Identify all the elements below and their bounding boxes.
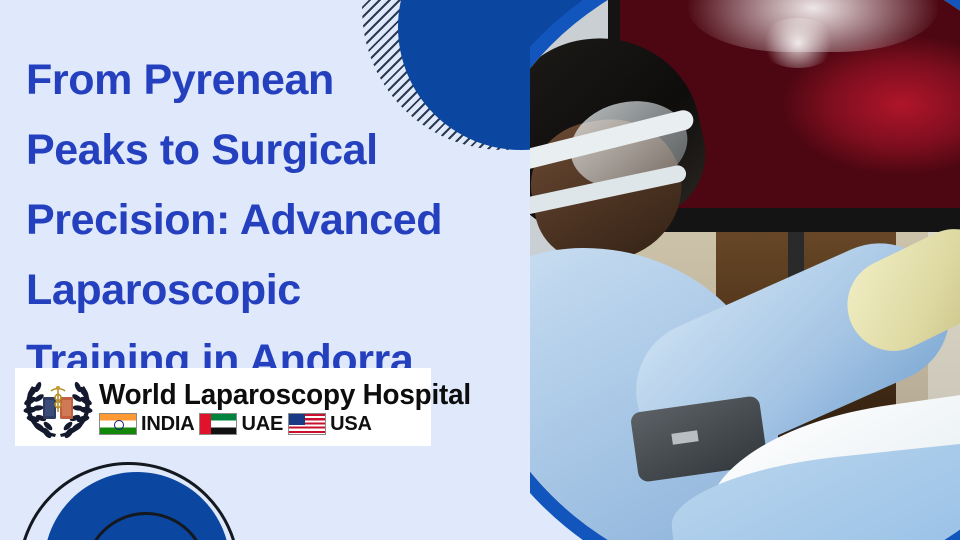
- uae-flag: [199, 413, 237, 435]
- poster-canvas: From Pyrenean Peaks to Surgical Precisio…: [0, 0, 960, 540]
- bottom-left-blue-disc: [44, 472, 230, 540]
- title-line-3: Precision: Advanced: [26, 185, 502, 255]
- india-flag: [99, 413, 137, 435]
- surgeon-photo-frame: [530, 0, 960, 540]
- country-label-uae: UAE: [241, 414, 283, 434]
- laurel-wreath-caduceus-books-emblem: [19, 372, 97, 442]
- logo-hospital-name: World Laparoscopy Hospital: [99, 379, 471, 411]
- country-usa: USA: [288, 413, 372, 435]
- logo-text-block: World Laparoscopy Hospital INDIA UAE USA: [97, 379, 486, 435]
- bottom-left-outline-ring-large: [18, 462, 240, 540]
- title-line-2: Peaks to Surgical: [26, 115, 502, 185]
- monitor-glare: [758, 18, 838, 68]
- bottom-left-outline-ring-small: [84, 512, 208, 540]
- country-uae: UAE: [199, 413, 283, 435]
- country-label-india: INDIA: [141, 414, 194, 434]
- page-title: From Pyrenean Peaks to Surgical Precisio…: [26, 45, 502, 395]
- usa-flag: [288, 413, 326, 435]
- world-laparoscopy-hospital-logo: World Laparoscopy Hospital INDIA UAE USA: [15, 368, 431, 446]
- photo-artwork: [530, 0, 960, 540]
- country-label-usa: USA: [330, 414, 372, 434]
- country-india: INDIA: [99, 413, 194, 435]
- logo-country-list: INDIA UAE USA: [99, 413, 486, 435]
- title-line-4: Laparoscopic: [26, 255, 502, 325]
- surgeon-performing-laparoscopic-surgery-photo: [530, 0, 960, 540]
- title-line-1: From Pyrenean: [26, 45, 502, 115]
